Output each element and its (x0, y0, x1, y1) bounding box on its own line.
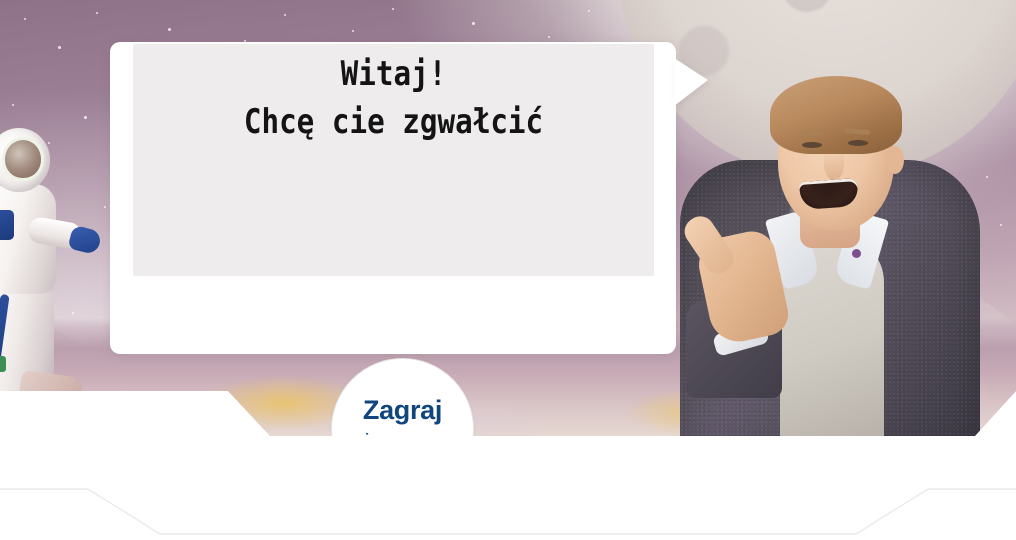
presenter-nose (824, 150, 844, 180)
speech-bubble-message: Witaj! Chcę cie zgwałcić (169, 50, 617, 146)
astronaut-boot (18, 370, 84, 408)
presenter-eye-right (848, 140, 868, 146)
presenter-eye-left (802, 142, 822, 148)
astronaut-patch (0, 356, 6, 372)
astronaut-figure (0, 128, 74, 410)
speech-bubble-line-2: Chcę cie zgwałcić (169, 98, 617, 146)
astronaut-chest-pack (0, 210, 14, 240)
speech-bubble-tail (674, 58, 708, 106)
page-root: Witaj! Chcę cie zgwałcić Zagraj jeszcze … (0, 0, 1016, 540)
presenter-hair (770, 76, 902, 154)
bottom-section (0, 436, 1016, 540)
presenter-ear (886, 146, 904, 174)
speech-bubble-line-1: Witaj! (169, 50, 617, 98)
astronaut-helmet (0, 128, 50, 192)
replay-button-main-label: Zagraj (363, 397, 442, 424)
presenter-lapel-pin (852, 249, 861, 258)
astronaut-visor (2, 137, 44, 181)
